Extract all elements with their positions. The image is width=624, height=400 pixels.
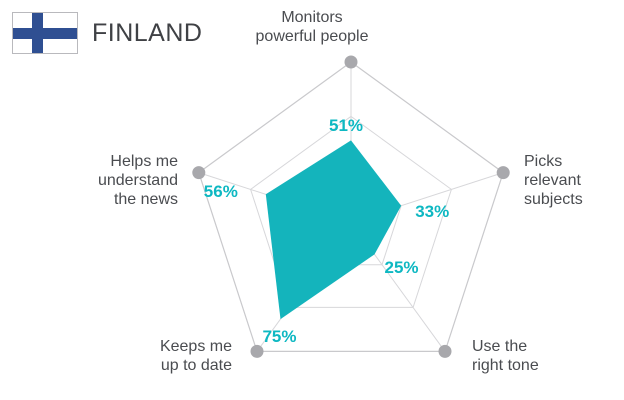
value-label-picks-relevant-subjects: 33% xyxy=(415,202,449,222)
value-label-helps-me-understand-the-news: 56% xyxy=(204,182,238,202)
axis-label-monitors-powerful-people: Monitors powerful people xyxy=(0,8,624,46)
axis-vertex-dot-0 xyxy=(345,56,358,69)
axis-vertex-dot-1 xyxy=(497,166,510,179)
value-label-monitors-powerful-people: 51% xyxy=(329,116,363,136)
value-label-keeps-me-up-to-date: 75% xyxy=(262,327,296,347)
axis-label-keeps-me-up-to-date: Keeps me up to date xyxy=(0,337,232,375)
axis-vertex-dot-4 xyxy=(192,166,205,179)
axis-label-picks-relevant-subjects: Picks relevant subjects xyxy=(524,152,620,209)
infographic-root: FINLAND Monitors powerful people Picks r… xyxy=(0,0,624,400)
data-polygon xyxy=(266,140,401,319)
value-label-use-the-right-tone: 25% xyxy=(385,258,419,278)
axis-vertex-dot-2 xyxy=(439,345,452,358)
axis-label-helps-me-understand-the-news: Helps me understand the news xyxy=(8,152,178,209)
axis-label-use-the-right-tone: Use the right tone xyxy=(472,337,612,375)
